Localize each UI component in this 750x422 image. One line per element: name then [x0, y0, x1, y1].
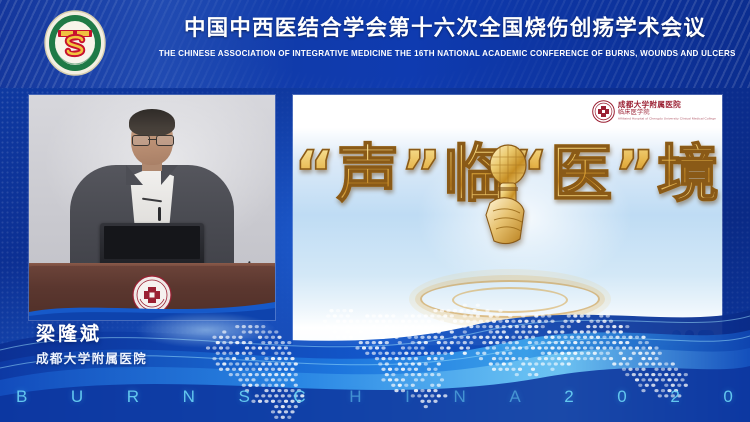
footer-letter-7: I	[405, 387, 411, 407]
lower-third-speaker-info: 梁隆斌 成都大学附属医院	[36, 322, 147, 367]
chengdu-university-hospital-emblem-icon	[592, 100, 615, 123]
speaker-organization: 成都大学附属医院	[36, 350, 147, 367]
speaker-video-panel[interactable]	[29, 95, 275, 320]
hospital-name-en: Affiliated Hospital of Chengdu Universit…	[618, 117, 716, 122]
footer-letter-8: N	[453, 387, 466, 407]
footer-letter-13: 0	[723, 387, 733, 407]
conference-header-banner: 中国中西医结合学会第十六次全国烧伤创疡学术会议 THE CHINESE ASSO…	[0, 0, 750, 88]
speaker-glasses-bridge	[148, 139, 156, 140]
hospital-logo: 成都大学附属医院 临床医学院 Affiliated Hospital of Ch…	[592, 98, 716, 124]
speaker-glasses-left	[132, 135, 150, 146]
footer-letter-5: C	[293, 387, 306, 407]
speaker-name: 梁隆斌	[36, 322, 147, 347]
speaker-collar-left	[126, 165, 143, 185]
footer-letter-12: 2	[670, 387, 680, 407]
speaker-glasses-right	[156, 135, 174, 146]
speaker-collar-right	[161, 165, 178, 185]
header-title-cn: 中国中西医结合学会第十六次全国烧伤创疡学术会议	[150, 14, 740, 44]
footer-letter-9: A	[509, 387, 521, 407]
footer-letter-4: S	[239, 387, 251, 407]
microphone-icon	[482, 141, 534, 261]
header-title-group: 中国中西医结合学会第十六次全国烧伤创疡学术会议 THE CHINESE ASSO…	[150, 14, 740, 59]
conference-broadcast-screen: 中国中西医结合学会第十六次全国烧伤创疡学术会议 THE CHINESE ASSO…	[0, 0, 750, 422]
speaker-lapel-mic	[158, 207, 161, 221]
speaker-hair	[129, 109, 175, 136]
footer-letter-1: U	[71, 387, 84, 407]
footer-letter-11: 0	[617, 387, 627, 407]
laptop-computer-icon	[100, 223, 204, 265]
hospital-name-cn: 成都大学附属医院	[618, 100, 716, 109]
hospital-logo-text: 成都大学附属医院 临床医学院 Affiliated Hospital of Ch…	[618, 100, 716, 122]
footer-letter-10: 2	[564, 387, 574, 407]
association-circular-emblem-icon	[42, 10, 108, 76]
footer-letter-strip: BURNSCHINA2020	[0, 386, 750, 408]
footer-letter-2: R	[127, 387, 140, 407]
header-title-en: THE CHINESE ASSOCIATION OF INTEGRATIVE M…	[159, 48, 731, 59]
hospital-name-cn2: 临床医学院	[618, 109, 716, 117]
laptop-screen	[104, 226, 200, 259]
footer-letter-3: N	[183, 387, 196, 407]
footer-letter-0: B	[16, 387, 28, 407]
footer-letter-6: H	[349, 387, 362, 407]
